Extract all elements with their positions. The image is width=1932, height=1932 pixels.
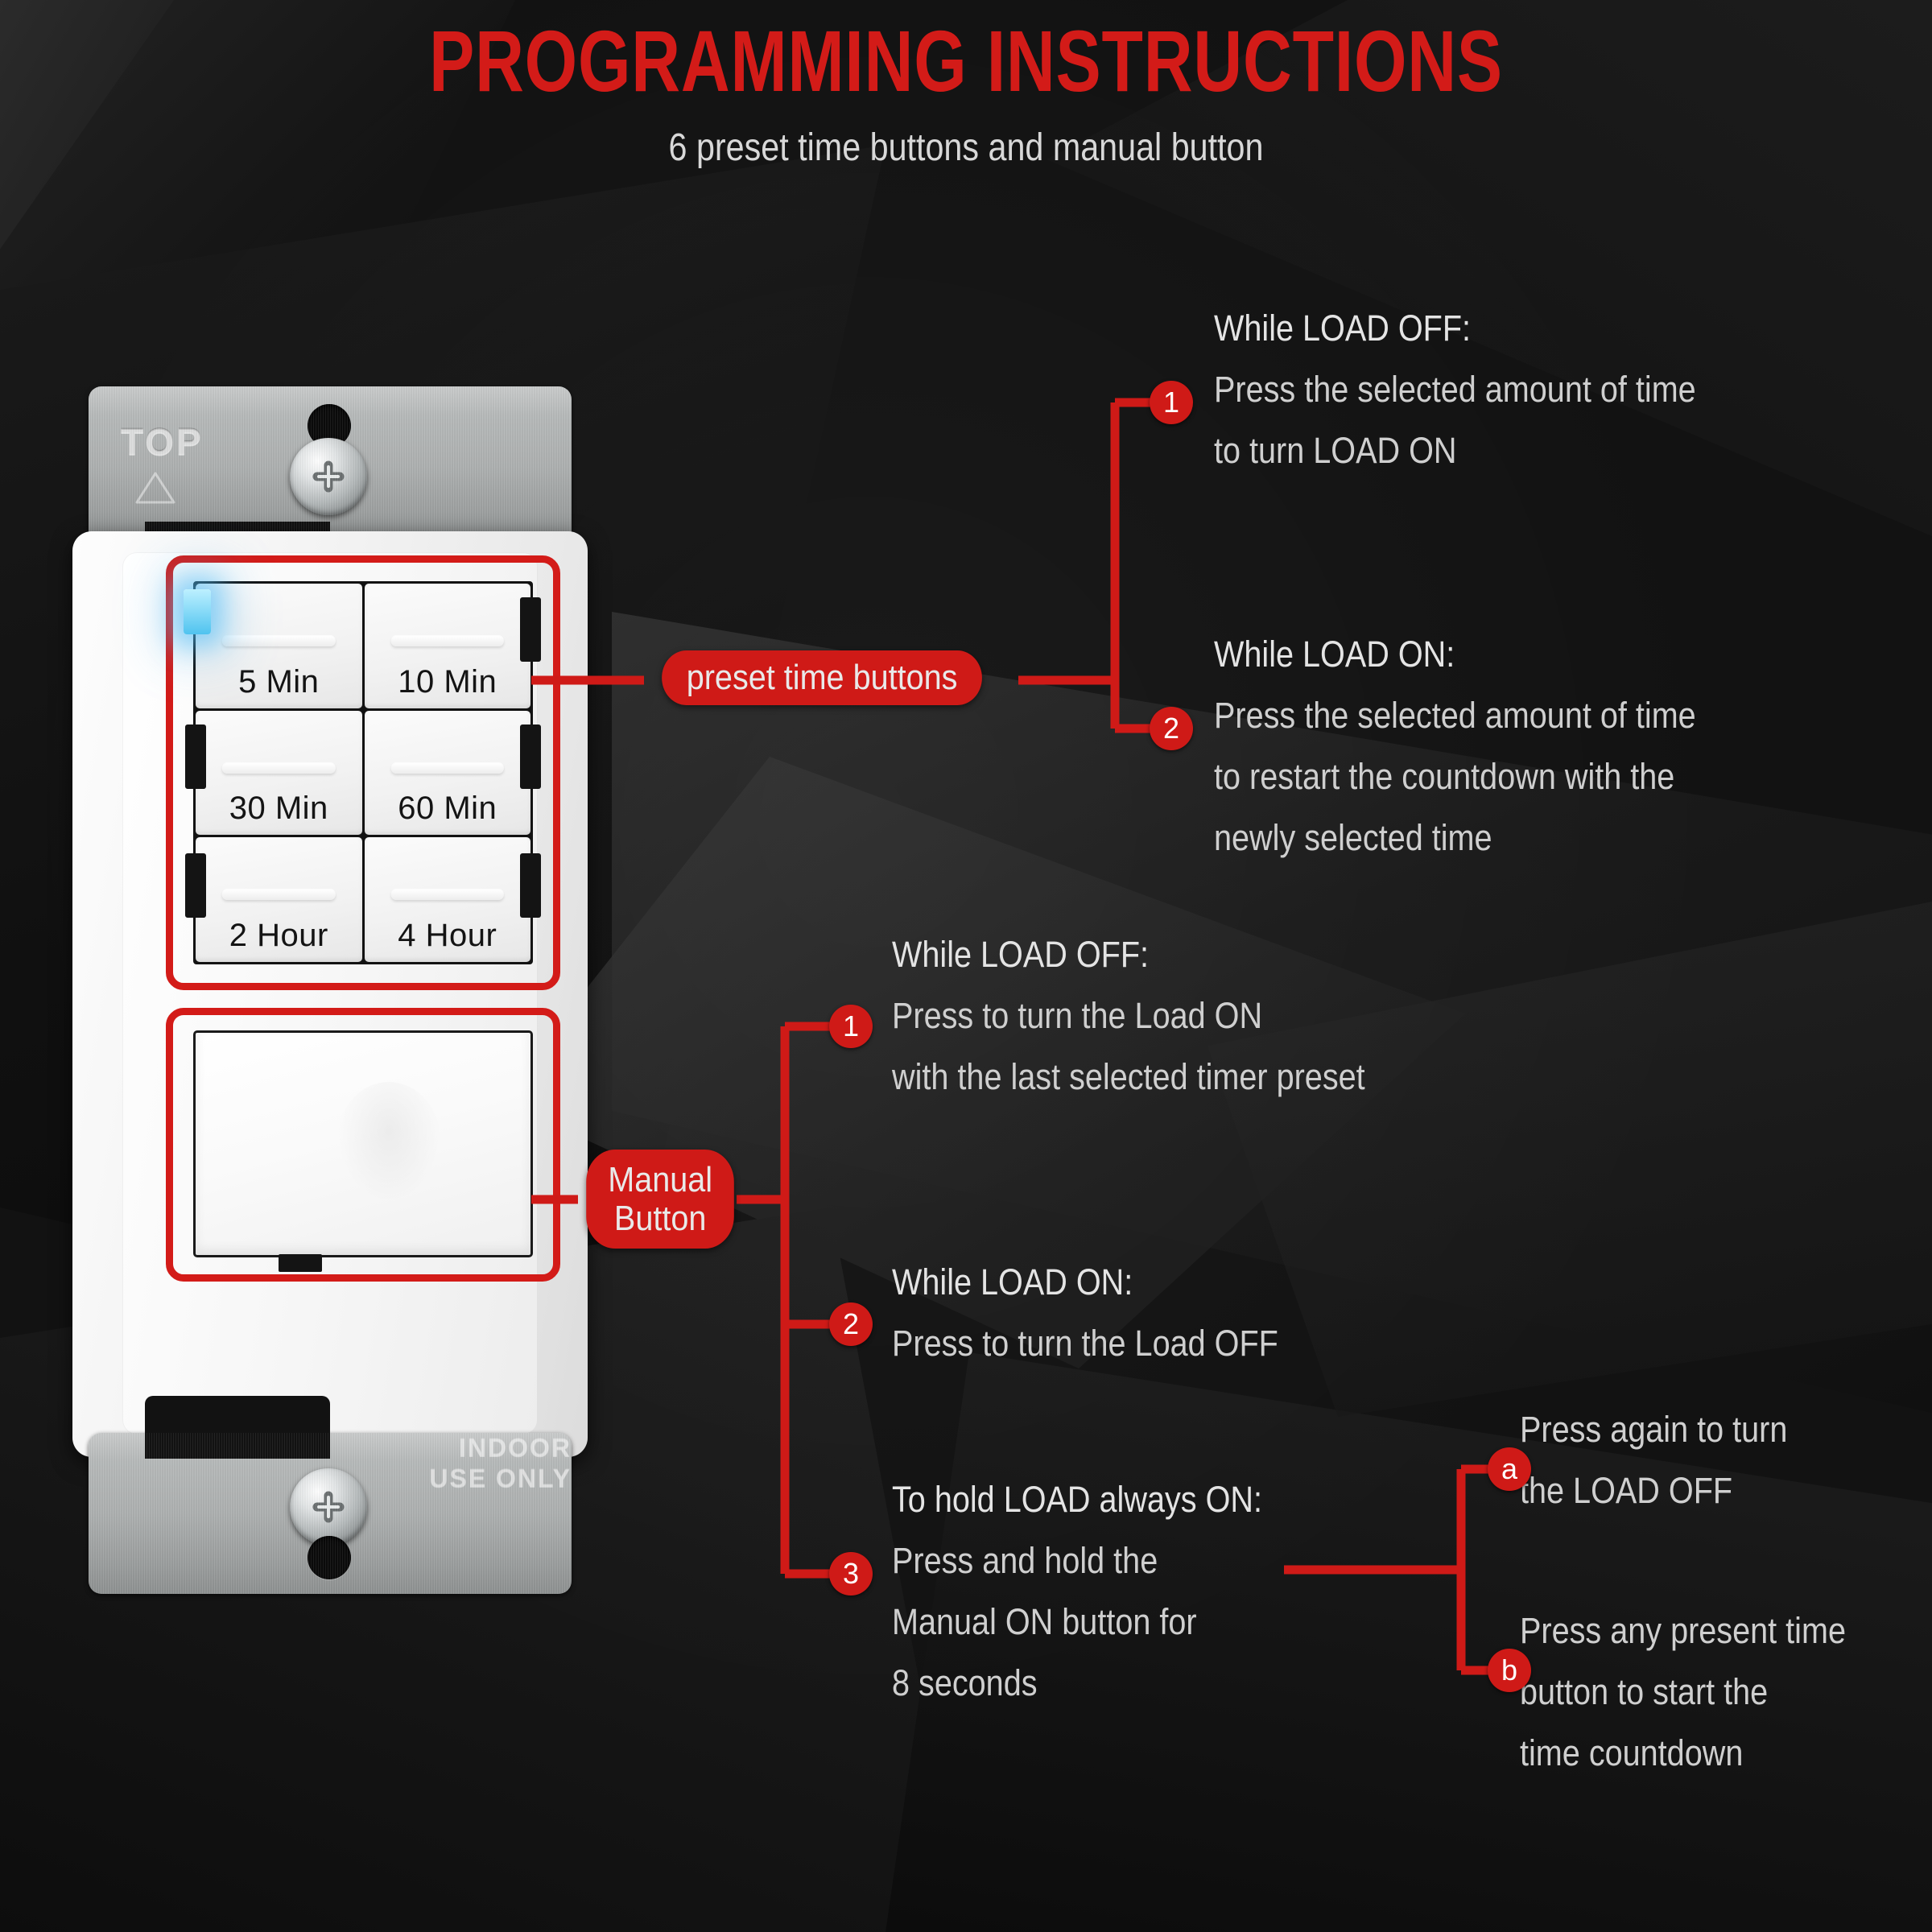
instruction-heading: While LOAD ON: — [1214, 624, 1696, 685]
preset-button-label: 30 Min — [229, 791, 328, 827]
instruction-line: Press and hold the — [892, 1530, 1262, 1591]
badge-manual-2: 2 — [829, 1302, 873, 1346]
button-ridge — [391, 763, 504, 774]
strap-notch — [145, 1396, 330, 1459]
instruction-sub-a: Press again to turn the LOAD OFF — [1520, 1399, 1824, 1521]
instruction-line: 8 seconds — [892, 1653, 1262, 1714]
badge-preset-1: 1 — [1150, 381, 1193, 424]
manual-button-callout: Manual Button — [586, 1150, 734, 1249]
timer-switch-device: TOP 5 Min 10 Min — [89, 386, 588, 1594]
preset-button-10-min[interactable]: 10 Min — [365, 584, 531, 708]
button-ridge — [222, 636, 335, 646]
preset-button-30-min[interactable]: 30 Min — [196, 711, 362, 836]
instruction-line: newly selected time — [1214, 807, 1696, 869]
instruction-heading: To hold LOAD always ON: — [892, 1469, 1262, 1530]
page-subtitle: 6 preset time buttons and manual button — [135, 126, 1797, 170]
button-ridge — [222, 890, 335, 900]
instruction-line: to restart the countdown with the — [1214, 746, 1696, 807]
instruction-line: Press again to turn — [1520, 1399, 1787, 1460]
button-side-tab — [520, 853, 541, 918]
status-led-icon — [184, 589, 211, 634]
instruction-heading: While LOAD ON: — [892, 1252, 1278, 1313]
preset-time-buttons-callout: preset time buttons — [662, 650, 982, 705]
page-title: PROGRAMMING INSTRUCTIONS — [213, 0, 1719, 105]
preset-button-2-hour[interactable]: 2 Hour — [196, 837, 362, 962]
instruction-line: with the last selected timer preset — [892, 1046, 1365, 1108]
button-side-tab — [185, 853, 206, 918]
badge-sub-b: b — [1488, 1649, 1531, 1692]
badge-sub-a: a — [1488, 1447, 1531, 1491]
instruction-line: time countdown — [1520, 1723, 1846, 1784]
button-side-tab — [185, 724, 206, 789]
top-orientation-label: TOP — [121, 420, 204, 464]
preset-button-label: 2 Hour — [229, 918, 328, 954]
badge-preset-2: 2 — [1150, 707, 1193, 750]
button-ridge — [222, 763, 335, 774]
mounting-strap-bottom: INDOOR USE ONLY — [89, 1433, 572, 1594]
manual-button-tab — [279, 1254, 322, 1272]
triangle-up-icon — [134, 470, 177, 506]
phillips-screw-icon — [290, 438, 367, 515]
phillips-screw-icon — [290, 1468, 367, 1546]
preset-button-label: 60 Min — [398, 791, 497, 827]
instruction-line: the LOAD OFF — [1520, 1460, 1787, 1521]
instruction-line: Manual ON button for — [892, 1591, 1262, 1653]
badge-manual-1: 1 — [829, 1005, 873, 1048]
button-side-tab — [520, 597, 541, 662]
instruction-line: Press the selected amount of time — [1214, 685, 1696, 746]
instruction-line: Press the selected amount of time — [1214, 359, 1696, 420]
instruction-heading: While LOAD OFF: — [1214, 298, 1696, 359]
preset-button-60-min[interactable]: 60 Min — [365, 711, 531, 836]
preset-button-5-min[interactable]: 5 Min — [196, 584, 362, 708]
instruction-line: button to start the — [1520, 1662, 1846, 1723]
mounting-strap-top: TOP — [89, 386, 572, 547]
preset-button-label: 5 Min — [238, 664, 319, 700]
button-ridge — [391, 636, 504, 646]
instruction-heading: While LOAD OFF: — [892, 924, 1365, 985]
badge-manual-3: 3 — [829, 1552, 873, 1596]
instruction-sub-b: Press any present time button to start t… — [1520, 1600, 1890, 1784]
instruction-line: Press any present time — [1520, 1600, 1846, 1662]
preset-button-label: 4 Hour — [398, 918, 497, 954]
instruction-line: Press to turn the Load ON — [892, 985, 1365, 1046]
instruction-line: Press to turn the Load OFF — [892, 1313, 1278, 1374]
instruction-line: to turn LOAD ON — [1214, 420, 1696, 481]
preset-button-label: 10 Min — [398, 664, 497, 700]
page-header: PROGRAMMING INSTRUCTIONS 6 preset time b… — [0, 0, 1932, 170]
instruction-manual-2: While LOAD ON: Press to turn the Load OF… — [892, 1252, 1331, 1374]
instruction-preset-2: While LOAD ON: Press the selected amount… — [1214, 624, 1761, 869]
preset-button-4-hour[interactable]: 4 Hour — [365, 837, 531, 962]
instruction-manual-3: To hold LOAD always ON: Press and hold t… — [892, 1469, 1313, 1714]
button-ridge — [391, 890, 504, 900]
screw-hole — [308, 1536, 351, 1579]
instruction-preset-1: While LOAD OFF: Press the selected amoun… — [1214, 298, 1761, 481]
preset-button-grid: 5 Min 10 Min 30 Min 60 Min 2 Hour 4 Hour — [193, 581, 533, 964]
instruction-manual-1: While LOAD OFF: Press to turn the Load O… — [892, 924, 1430, 1108]
manual-button[interactable] — [193, 1030, 533, 1257]
button-side-tab — [520, 724, 541, 789]
